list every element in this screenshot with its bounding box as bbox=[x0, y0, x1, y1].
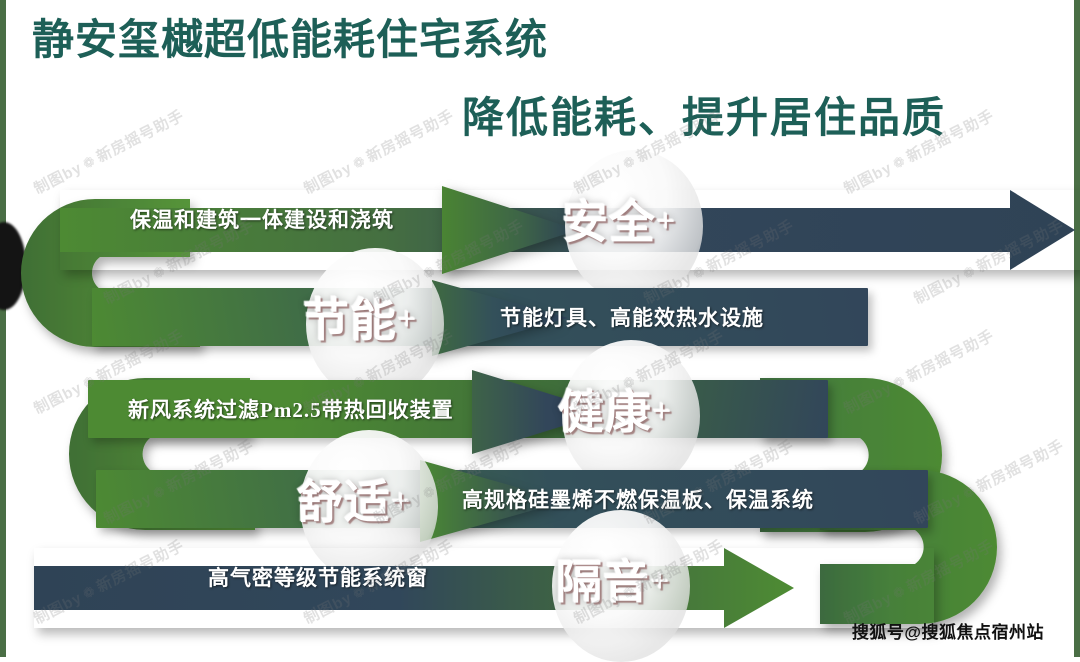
page-title: 静安玺樾超低能耗住宅系统 bbox=[32, 6, 548, 67]
row4-chevron-icon bbox=[418, 458, 568, 544]
page-subtitle: 降低能耗、提升居住品质 bbox=[462, 84, 946, 145]
row3 bbox=[88, 380, 828, 438]
row3-bar bbox=[88, 380, 828, 438]
credit-text: 搜狐号@搜狐焦点宿州站 bbox=[852, 618, 1044, 643]
row3-chevron-icon bbox=[470, 368, 610, 456]
row1-chevron-icon bbox=[440, 184, 580, 276]
row2-chevron-icon bbox=[430, 278, 570, 358]
row5-arrow-shape bbox=[34, 548, 934, 628]
infographic-canvas: 静安玺樾超低能耗住宅系统 降低能耗、提升居住品质 bbox=[0, 0, 1080, 657]
